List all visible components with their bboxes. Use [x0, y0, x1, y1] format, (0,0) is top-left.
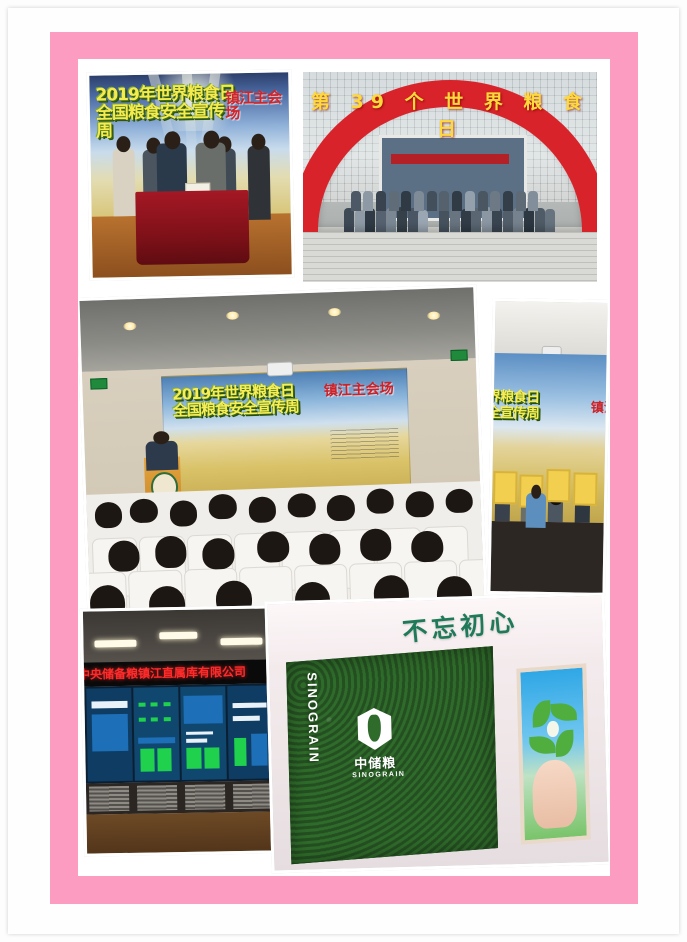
ceiling-light	[159, 631, 197, 639]
speaker-head	[153, 431, 169, 444]
attendee-figure	[248, 145, 271, 220]
led-marquee-sign: 中央储备粮镇江直属库有限公司	[84, 659, 274, 686]
photo-collage: 2019年世界粮食日 全国粮食安全宣传周 镇江主会场	[78, 59, 610, 876]
exit-sign-icon	[451, 349, 468, 361]
signer-figure	[156, 143, 187, 196]
red-signing-table	[135, 190, 250, 265]
award-ceremony-photo[interactable]: 界粮食日 全宣传周 镇江	[487, 298, 610, 596]
stage-banner-text: 2019年世界粮食日 全国粮食安全宣传周	[172, 382, 324, 420]
stage-banner-text: 界粮食日 全宣传周	[490, 390, 565, 422]
video-panel-scada	[180, 686, 227, 780]
main-conference-hall-photo[interactable]: 2019年世界粮食日 全国粮食安全宣传周 镇江主会场	[78, 284, 488, 628]
ceiling-light	[95, 640, 137, 648]
inner-white-mat: 2019年世界粮食日 全国粮食安全宣传周 镇江主会场	[78, 59, 610, 876]
arch-banner-text: 第 39 个 世 界 粮 食 日	[303, 87, 597, 141]
wheat-shield-icon	[357, 708, 392, 751]
grain-depot-control-room-photo[interactable]: 中央储备粮镇江直属库有限公司	[80, 605, 280, 856]
lightbox-poster	[517, 663, 592, 844]
flower-center-icon	[547, 720, 559, 737]
signing-banner-venue-text: 镇江主会场	[225, 91, 285, 122]
pink-decorative-frame: 2019年世界粮食日 全国粮食安全宣传周 镇江主会场	[50, 32, 638, 904]
front-row-audience	[490, 521, 603, 593]
stone-steps	[303, 227, 597, 282]
vertical-sinograin-lettering: SINOGRAIN	[289, 672, 321, 764]
logo-english-name: SINOGRAIN	[352, 771, 399, 779]
video-panel-scada	[133, 687, 180, 781]
ceiling-light	[220, 638, 262, 646]
ceiling-projector	[267, 362, 293, 377]
award-certificate	[573, 472, 598, 505]
sinograin-logo: 中储粮 SINOGRAIN	[350, 707, 399, 779]
hall-ceiling	[79, 287, 475, 372]
award-certificate	[546, 469, 571, 502]
signing-ceremony-photo[interactable]: 2019年世界粮食日 全国粮食安全宣传周 镇江主会场	[86, 69, 295, 281]
control-room-floor	[86, 812, 277, 854]
award-certificate	[493, 471, 518, 504]
stage-venue-text: 镇江	[591, 397, 608, 416]
video-panel	[86, 688, 133, 782]
speaker-figure	[145, 440, 178, 470]
hands-illustration	[532, 759, 578, 830]
ceiling-light	[427, 311, 440, 319]
led-sign-text: 中央储备粮镇江直属库有限公司	[83, 663, 246, 683]
attendee-head	[251, 133, 265, 149]
group-photo-under-arch[interactable]: 第 39 个 世 界 粮 食 日	[300, 69, 600, 285]
stage-fine-print	[330, 428, 399, 459]
sinograin-moss-wall-photo[interactable]: 不忘初心 SINOGRAIN 中储粮 SINOGRAIN	[264, 593, 610, 874]
pinwheel-plant-icon	[533, 699, 574, 759]
collage-page: 2019年世界粮食日 全国粮食安全宣传周 镇江主会场	[0, 0, 687, 942]
video-wall	[84, 683, 276, 783]
logo-chinese-name: 中储粮	[352, 752, 399, 772]
exit-sign-icon	[90, 378, 107, 390]
equipment-cabinets	[86, 780, 277, 815]
stage-venue-text: 镇江主会场	[324, 382, 400, 399]
signer-head	[164, 131, 180, 149]
attendee-figure	[112, 148, 135, 217]
attendee-head	[116, 136, 130, 152]
